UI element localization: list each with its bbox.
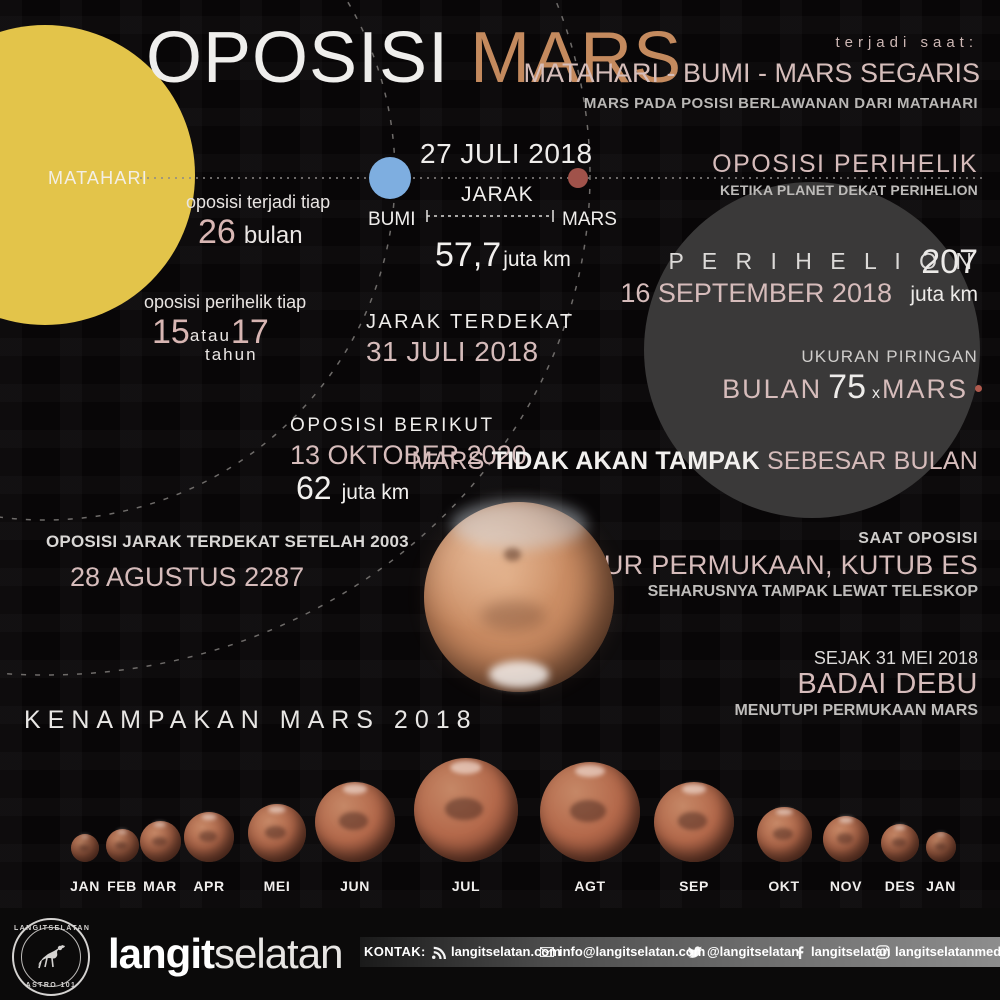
infographic-poster: OPOSISI MARS terjadi saat: MATAHARI - BU… bbox=[0, 0, 1000, 1000]
oposisi-tiap-label: oposisi terjadi tiap bbox=[186, 192, 330, 213]
mars-disk-polar-cap bbox=[117, 830, 127, 834]
oposisi-setelah-2003-label: OPOSISI JARAK TERDEKAT SETELAH 2003 bbox=[46, 532, 409, 552]
twitter-icon bbox=[688, 945, 702, 959]
month-label-jul-6: JUL bbox=[452, 878, 480, 894]
mars-disk-polar-cap bbox=[450, 761, 481, 773]
jarak-terdekat-label: JARAK TERDEKAT bbox=[366, 311, 574, 334]
title-part-oposisi: OPOSISI bbox=[146, 18, 449, 98]
mars-disk-mare bbox=[79, 845, 89, 851]
jarak-value: 57,7 bbox=[435, 236, 501, 274]
fitur-permukaan-headline: FITUR PERMUKAAN, KUTUB ES bbox=[562, 550, 978, 581]
bulan-word: BULAN bbox=[722, 374, 822, 404]
kenampakan-heading: KENAMPAKAN MARS 2018 bbox=[24, 706, 478, 735]
mars-south-polar-cap bbox=[489, 661, 550, 688]
mars-disk-jul-6 bbox=[414, 758, 518, 862]
mars-photo-dust-storm bbox=[424, 502, 614, 692]
earth-label: BUMI bbox=[368, 209, 416, 231]
tampak-emphasis: TIDAK AKAN TAMPAK bbox=[492, 447, 760, 475]
month-label-jun-5: JUN bbox=[340, 878, 370, 894]
earth-dot bbox=[369, 157, 411, 199]
badai-debu-headline: BADAI DEBU bbox=[797, 668, 978, 701]
wordmark-selatan: selatan bbox=[214, 930, 342, 977]
mars-disk-polar-cap bbox=[81, 835, 89, 838]
centaur-icon bbox=[34, 942, 68, 972]
oposisi-berikut-unit: juta km bbox=[342, 481, 410, 504]
mars-disk-sep-8 bbox=[654, 782, 734, 862]
langitselatan-logo: LANGITSELATAN ASTRO 101 bbox=[12, 918, 90, 996]
rss-icon bbox=[432, 945, 446, 959]
sun-label: MATAHARI bbox=[48, 168, 148, 189]
oposisi-tiap-value-group: 26bulan bbox=[198, 213, 303, 252]
times-symbol: x bbox=[872, 385, 882, 402]
tampak-suffix: SEBESAR BULAN bbox=[760, 447, 978, 475]
mars-disk-polar-cap bbox=[682, 784, 706, 794]
perihelik-tiap-unit: tahun bbox=[205, 345, 258, 365]
mars-disk-mar-2 bbox=[140, 821, 181, 862]
saat-oposisi-label: SAAT OPOSISI bbox=[858, 530, 978, 548]
month-label-apr-3: APR bbox=[193, 878, 224, 894]
ratio-multiplier: 75 bbox=[828, 368, 866, 406]
seharusnya-tampak-note: SEHARUSNYA TAMPAK LEWAT TELESKOP bbox=[648, 583, 978, 601]
month-label-jan-0: JAN bbox=[70, 878, 100, 894]
mars-disk-des-11 bbox=[881, 824, 919, 862]
jarak-label: JARAK bbox=[461, 183, 534, 207]
mars-disk-polar-cap bbox=[894, 825, 905, 830]
oposisi-berikut-label: OPOSISI BERIKUT bbox=[290, 415, 495, 437]
mars-disk-feb-1 bbox=[106, 829, 139, 862]
email-icon bbox=[540, 945, 554, 959]
month-label-feb-1: FEB bbox=[107, 878, 137, 894]
month-label-des-11: DES bbox=[885, 878, 916, 894]
mars-dark-spot bbox=[504, 548, 521, 561]
perihelik-tiap-value-1: 15 bbox=[152, 313, 190, 351]
mars-size-dot bbox=[975, 385, 982, 392]
mars-disk-polar-cap bbox=[839, 817, 853, 823]
langitselatan-wordmark: langitselatan bbox=[108, 930, 342, 978]
mars-disk-polar-cap bbox=[268, 806, 285, 813]
ukuran-piringan-label: UKURAN PIRINGAN bbox=[801, 347, 978, 367]
perihelik-tiap-label: oposisi perihelik tiap bbox=[144, 292, 306, 313]
mars-disk-polar-cap bbox=[776, 809, 793, 816]
contact-twitter[interactable]: @langitselatan bbox=[688, 944, 799, 959]
mars-disk-mare bbox=[115, 842, 127, 849]
jarak-unit: juta km bbox=[503, 248, 571, 271]
oposisi-berikut-distance: 62 bbox=[296, 470, 332, 506]
perihelion-number: 207 bbox=[921, 243, 978, 282]
mars-disk-nov-10 bbox=[823, 816, 869, 862]
opposition-date: 27 JULI 2018 bbox=[420, 138, 593, 170]
mars-disk-mare bbox=[339, 812, 368, 830]
perihelion-unit: juta km bbox=[910, 283, 978, 307]
month-label-okt-9: OKT bbox=[768, 878, 799, 894]
mars-label: MARS bbox=[562, 209, 617, 231]
contact-text: info@langitselatan.com bbox=[559, 944, 705, 959]
instagram-icon bbox=[876, 945, 890, 959]
month-label-agt-7: AGT bbox=[574, 878, 605, 894]
mars-disk-jun-5 bbox=[315, 782, 395, 862]
mars-disk-mare bbox=[199, 831, 217, 842]
oposisi-perihelik-title: OPOSISI PERIHELIK bbox=[712, 150, 978, 179]
mars-disk-mei-4 bbox=[248, 804, 306, 862]
oposisi-tiap-unit: bulan bbox=[244, 222, 303, 249]
mars-disk-mare bbox=[837, 833, 854, 843]
mars-disk-polar-cap bbox=[937, 833, 946, 837]
month-label-mei-4: MEI bbox=[264, 878, 291, 894]
month-label-sep-8: SEP bbox=[679, 878, 709, 894]
tampak-prefix: MARS bbox=[411, 447, 491, 475]
mars-disk-mare bbox=[773, 828, 793, 840]
logo-top-text: LANGITSELATAN bbox=[14, 925, 88, 932]
facebook-icon bbox=[792, 945, 806, 959]
month-label-nov-10: NOV bbox=[830, 878, 862, 894]
jarak-terdekat-value: 31 JULI 2018 bbox=[366, 336, 539, 368]
oposisi-berikut-distance-group: 62juta km bbox=[296, 470, 409, 507]
mars-disk-mare bbox=[678, 812, 707, 830]
mars-disk-polar-cap bbox=[343, 784, 367, 794]
mars-north-haze bbox=[451, 500, 588, 549]
distance-measure bbox=[427, 210, 553, 222]
month-label-jan-12: JAN bbox=[926, 878, 956, 894]
contact-instagram[interactable]: langitselatanmedia bbox=[876, 944, 1000, 959]
mars-disk-apr-3 bbox=[184, 812, 234, 862]
mars-disk-agt-7 bbox=[540, 762, 640, 862]
mars-disk-mare bbox=[152, 837, 167, 846]
mars-word: MARS bbox=[882, 374, 968, 404]
mars-disk-mare bbox=[265, 826, 286, 839]
bulan-vs-mars-ratio: BULAN75xMARS bbox=[722, 368, 982, 407]
contact-email[interactable]: info@langitselatan.com bbox=[540, 944, 705, 959]
tidak-akan-tampak-statement: MARS TIDAK AKAN TAMPAK SEBESAR BULAN bbox=[411, 447, 978, 476]
mars-disk-jan-12 bbox=[926, 832, 956, 862]
logo-bottom-text: ASTRO 101 bbox=[14, 982, 88, 989]
oposisi-setelah-2003-value: 28 AGUSTUS 2287 bbox=[70, 562, 304, 593]
mars-dot bbox=[568, 168, 588, 188]
terjadi-saat-label: terjadi saat: bbox=[835, 34, 978, 51]
perihelik-tiap-conjunction: atau bbox=[190, 326, 231, 345]
oposisi-tiap-value: 26 bbox=[198, 213, 236, 251]
mars-disk-okt-9 bbox=[757, 807, 812, 862]
mars-disk-polar-cap bbox=[154, 822, 166, 827]
kontak-label: KONTAK: bbox=[364, 944, 426, 959]
jarak-value-group: 57,7juta km bbox=[435, 236, 571, 275]
mars-disk-mare bbox=[570, 800, 606, 822]
wordmark-langit: langit bbox=[108, 930, 214, 977]
mars-disk-polar-cap bbox=[202, 814, 217, 820]
mars-disk-jan-0 bbox=[71, 834, 99, 862]
contact-text: langitselatanmedia bbox=[895, 944, 1000, 959]
sejak-date-label: SEJAK 31 MEI 2018 bbox=[814, 648, 978, 669]
mars-disk-mare bbox=[935, 843, 946, 850]
menutupi-permukaan-note: MENUTUPI PERMUKAAN MARS bbox=[734, 702, 978, 720]
month-label-mar-2: MAR bbox=[143, 878, 177, 894]
oposisi-perihelik-subtitle: KETIKA PLANET DEKAT PERIHELION bbox=[720, 182, 978, 198]
perihelion-date: 16 SEPTEMBER 2018 bbox=[620, 278, 892, 309]
mars-disk-mare bbox=[445, 798, 482, 821]
mars-dark-region bbox=[481, 601, 546, 631]
segaris-headline: MATAHARI - BUMI - MARS SEGARIS bbox=[523, 58, 980, 89]
mars-disk-mare bbox=[892, 838, 906, 846]
mars-disk-polar-cap bbox=[575, 765, 605, 777]
berlawanan-subtitle: MARS PADA POSISI BERLAWANAN DARI MATAHAR… bbox=[584, 95, 978, 112]
contact-text: @langitselatan bbox=[707, 944, 799, 959]
